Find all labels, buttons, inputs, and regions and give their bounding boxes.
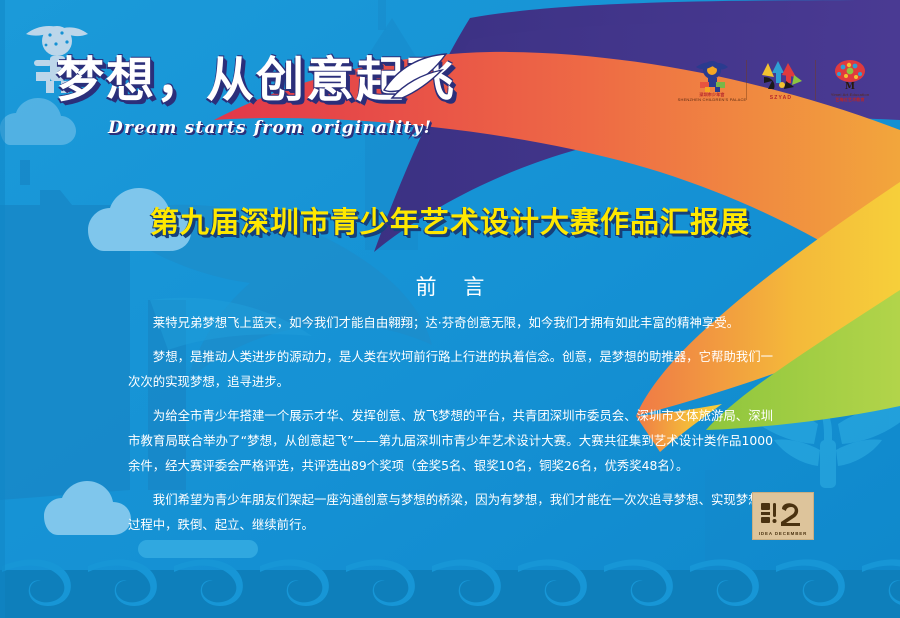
preface-paragraph-2: 为给全市青少年搭建一个展示才华、发挥创意、放飞梦想的平台，共青团深圳市委员会、深…	[128, 403, 773, 478]
svg-text:M: M	[845, 82, 855, 92]
header-logo-lockup: 梦想，从创意起飞 Dream starts from originality!	[18, 18, 438, 158]
yimeihong-art-education-logo-icon: M	[831, 58, 869, 92]
sponsor-logo-1: SZYAD	[752, 52, 810, 108]
preface-paragraph-0: 莱特兄弟梦想飞上蓝天，如今我们才能自由翱翔；达·芬奇创意无限，如今我们才拥有如此…	[128, 310, 773, 335]
sponsor-logo-2-caption-cn: 艺梅红艺术教育	[835, 97, 864, 102]
preface-body: 莱特兄弟梦想飞上蓝天，如今我们才能自由翱翔；达·芬奇创意无限，如今我们才拥有如此…	[128, 310, 773, 546]
page-title: 第九届深圳市青少年艺术设计大赛作品汇报展	[0, 199, 900, 241]
wing-flourish-icon	[376, 50, 456, 110]
preface-paragraph-1: 梦想，是推动人类进步的源动力，是人类在坎坷前行路上行进的执着信念。创意，是梦想的…	[128, 344, 773, 394]
logo-divider-1	[746, 60, 747, 100]
sponsor-logo-0: 深圳市少年宫 SHENZHEN CHILDREN'S PALACE	[683, 52, 741, 108]
slogan-english: Dream starts from originality!	[108, 118, 432, 138]
poster-canvas: 梦想，从创意起飞 Dream starts from originality!	[0, 0, 900, 618]
sponsor-logo-strip: 深圳市少年宫 SHENZHEN CHILDREN'S PALACE SZYAD	[683, 52, 879, 108]
sponsor-logo-0-caption-en: SHENZHEN CHILDREN'S PALACE	[678, 97, 747, 102]
left-edge-accent	[0, 0, 5, 618]
preface-paragraph-3: 我们希望为青少年朋友们架起一座沟通创意与梦想的桥梁，因为有梦想，我们才能在一次次…	[128, 487, 773, 537]
seal-caption: IDEA DECEMBER	[753, 531, 813, 536]
preface-heading: 前 言	[0, 271, 900, 301]
szyad-arrows-logo-icon	[758, 59, 804, 95]
idea-december-seal: IDEA DECEMBER	[752, 492, 814, 540]
idea-december-seal-icon	[759, 501, 807, 531]
logo-divider-2	[815, 60, 816, 100]
shenzhen-youth-palace-logo-icon	[692, 58, 732, 92]
sponsor-logo-1-caption-en: SZYAD	[770, 95, 793, 101]
sponsor-logo-2: M Yimei Art Education 艺梅红艺术教育	[821, 52, 879, 108]
wave-band	[0, 570, 900, 618]
